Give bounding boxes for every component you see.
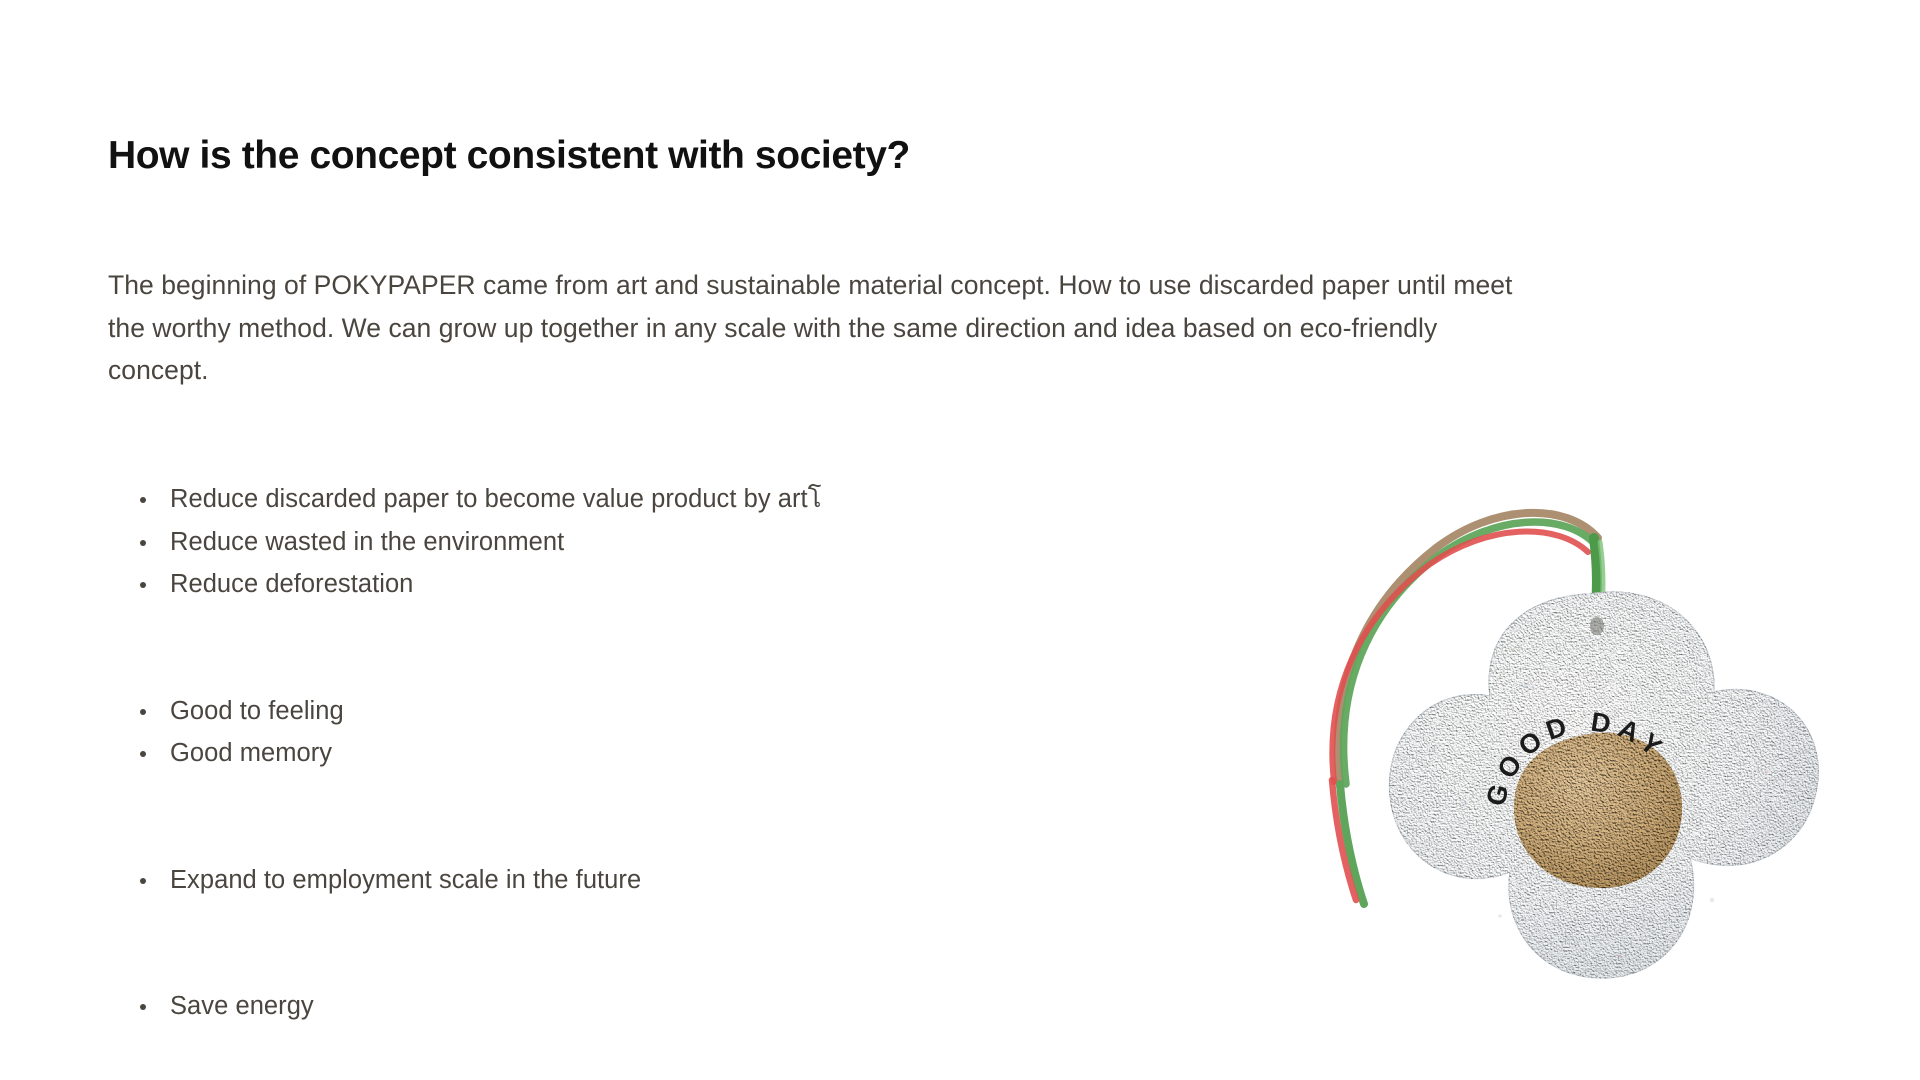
bullet-dot-icon [140,1004,146,1010]
bullet-group-emotional: Good to feeling Good memory [134,690,1334,775]
paper-flower-ornament-image: Handmade recycled paper flower ornament … [1268,486,1888,1031]
list-item: Good memory [134,732,1334,775]
list-item-label: Reduce discarded paper to become value p… [170,485,821,513]
list-item-label: Reduce deforestation [170,570,413,598]
bullet-group-energy: Save energy [134,985,1334,1028]
list-item: Reduce deforestation [134,563,1334,606]
list-item-label: Good to feeling [170,697,344,725]
bullet-dot-icon [140,497,146,503]
page-title: How is the concept consistent with socie… [108,133,910,179]
bullet-dot-icon [140,582,146,588]
cord-hole [1590,617,1604,635]
bullet-dot-icon [140,751,146,757]
list-item: Good to feeling [134,690,1334,733]
list-item-label: Save energy [170,992,314,1020]
bullet-dot-icon [140,540,146,546]
slide-root: How is the concept consistent with socie… [0,0,1920,1080]
list-item: Reduce discarded paper to become value p… [134,478,1334,521]
bullet-list-container: Reduce discarded paper to become value p… [134,478,1334,1028]
list-item-label: Good memory [170,739,332,767]
bullet-dot-icon [140,709,146,715]
bullet-dot-icon [140,878,146,884]
list-item-label: Reduce wasted in the environment [170,528,564,556]
list-item-label: Expand to employment scale in the future [170,866,641,894]
intro-paragraph: The beginning of POKYPAPER came from art… [108,264,1538,392]
bullet-group-environment: Reduce discarded paper to become value p… [134,478,1334,606]
bullet-group-employment: Expand to employment scale in the future [134,859,1334,902]
list-item: Expand to employment scale in the future [134,859,1334,902]
list-item: Reduce wasted in the environment [134,521,1334,564]
list-item: Save energy [134,985,1334,1028]
